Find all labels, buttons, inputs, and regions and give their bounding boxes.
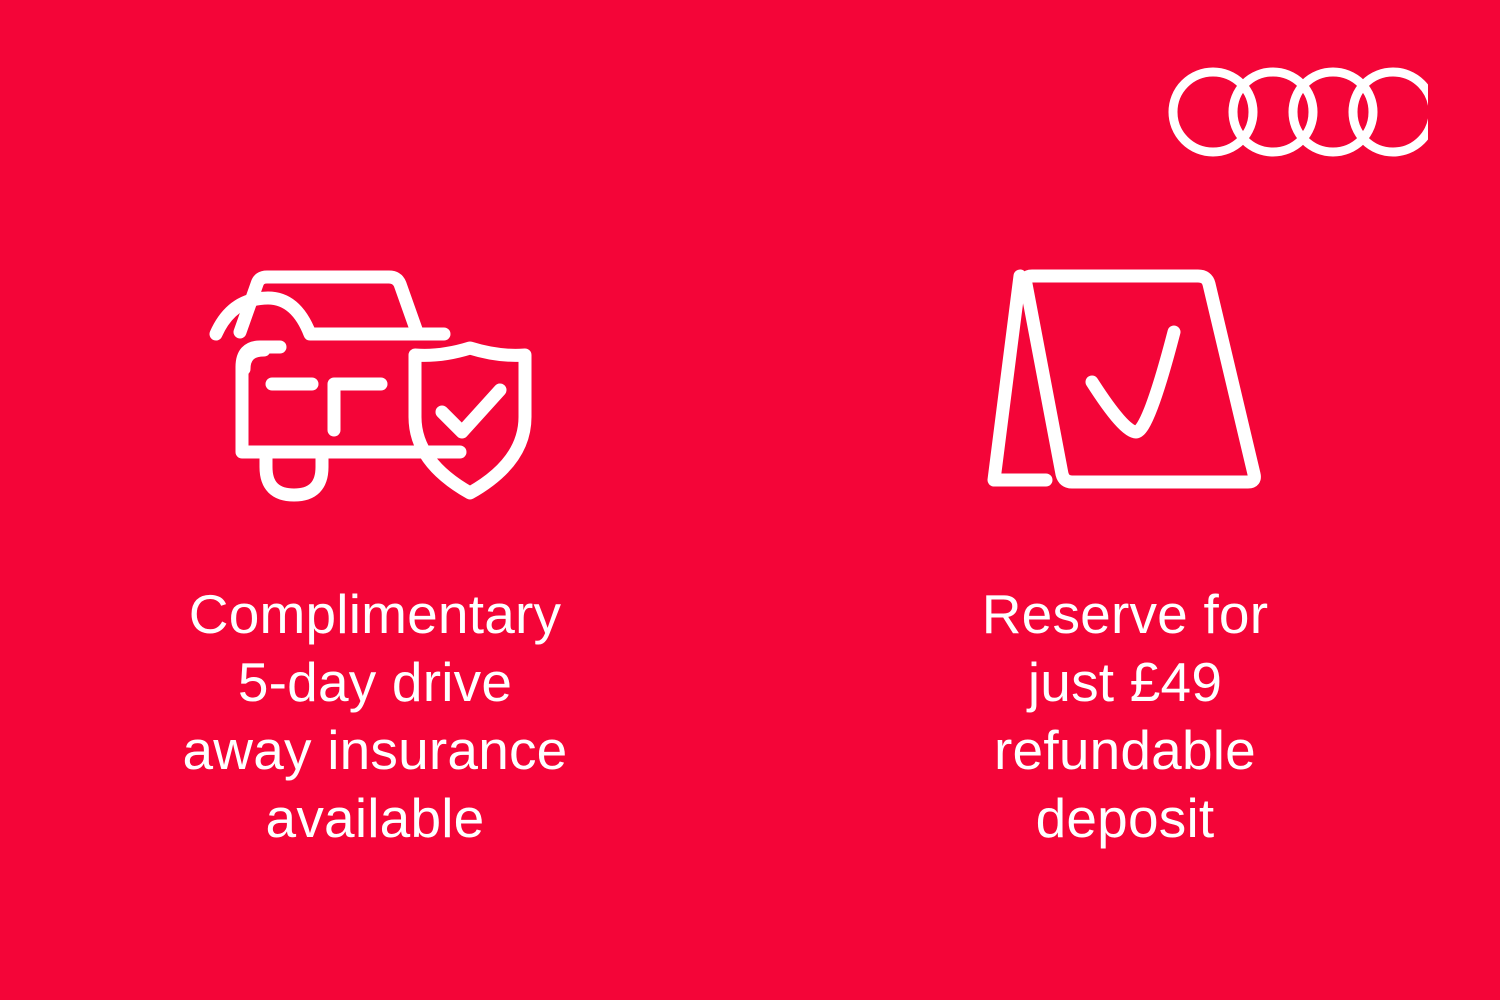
features-row: Complimentary 5-day drive away insurance… xyxy=(0,0,1500,1000)
tent-card-check-icon xyxy=(980,262,1270,502)
feature-caption-insurance: Complimentary 5-day drive away insurance… xyxy=(95,580,655,852)
feature-caption-deposit: Reserve for just £49 refundable deposit xyxy=(890,580,1360,852)
promo-banner: Complimentary 5-day drive away insurance… xyxy=(0,0,1500,1000)
feature-item-deposit: Reserve for just £49 refundable deposit xyxy=(750,0,1500,852)
feature-item-insurance: Complimentary 5-day drive away insurance… xyxy=(0,0,750,852)
car-shield-insurance-icon xyxy=(210,262,540,502)
